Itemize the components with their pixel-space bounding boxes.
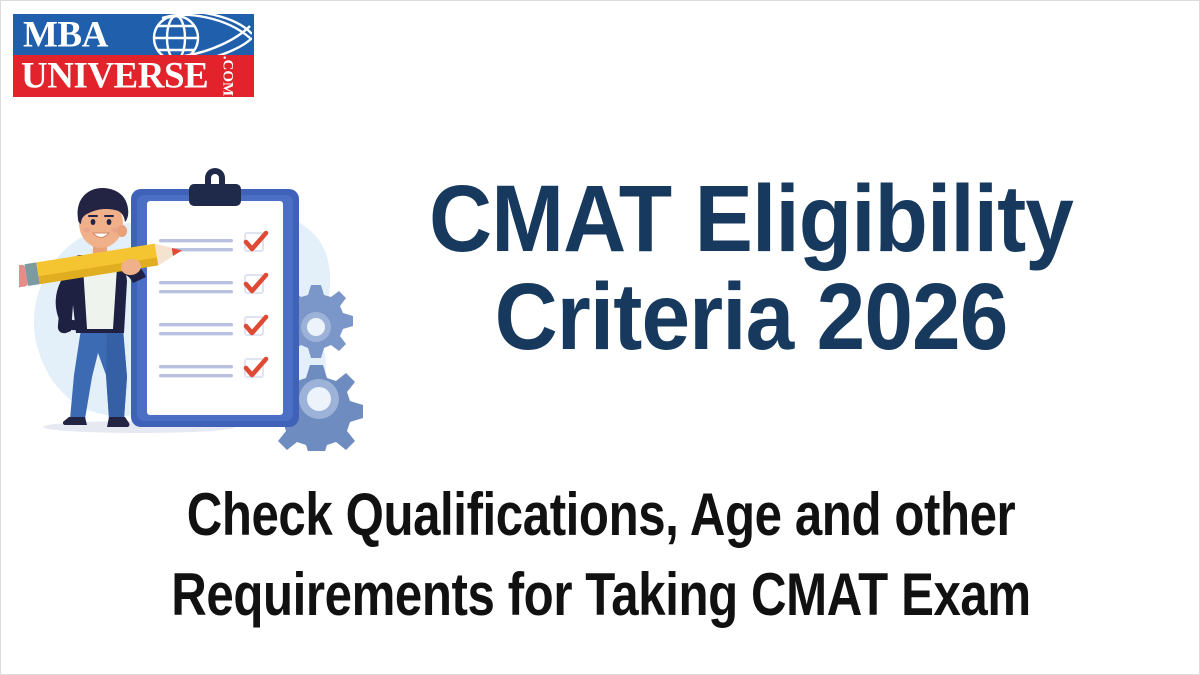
- banner-root: MBA UNIVERSE .COM: [0, 0, 1200, 675]
- person-eye-right: [107, 219, 112, 225]
- clipboard: [131, 168, 299, 427]
- person-shoe-right: [107, 417, 129, 427]
- logo-text-dotcom: .COM: [218, 56, 235, 96]
- title-line-2: Criteria 2026: [374, 269, 1128, 367]
- person-eye-left: [91, 219, 96, 225]
- person-cheek-right: [111, 228, 119, 233]
- title-line-1: CMAT Eligibility: [374, 171, 1128, 269]
- hero-illustration: [19, 151, 364, 451]
- logo-top-row: MBA: [13, 14, 254, 55]
- person-shoe-left: [63, 417, 87, 425]
- logo-text-mba: MBA: [23, 16, 108, 53]
- person-pants-shade: [106, 329, 127, 419]
- globe-grid-icon: [132, 14, 252, 55]
- clipboard-clip: [189, 184, 241, 206]
- site-logo[interactable]: MBA UNIVERSE .COM: [13, 14, 254, 97]
- page-subtitle: Check Qualifications, Age and other Requ…: [21, 475, 1181, 635]
- subtitle-line-1: Check Qualifications, Age and other: [125, 475, 1076, 555]
- page-title: CMAT Eligibility Criteria 2026: [341, 171, 1161, 367]
- logo-text-universe: UNIVERSE: [21, 58, 208, 95]
- subtitle-line-2: Requirements for Taking CMAT Exam: [125, 555, 1076, 635]
- person-cheek-left: [83, 228, 91, 233]
- logo-bottom-row: UNIVERSE .COM: [13, 55, 254, 97]
